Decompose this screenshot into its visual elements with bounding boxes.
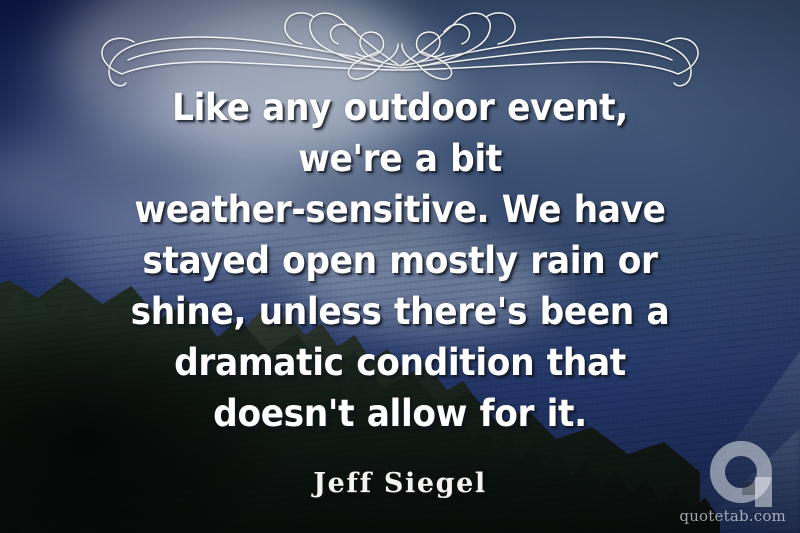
quotetab-q-logo-icon[interactable] (710, 441, 772, 503)
quote-line: stayed open mostly rain or (65, 235, 735, 286)
quote-text: Like any outdoor event, we're a bit weat… (65, 82, 735, 439)
watermark[interactable]: quotetab.com (680, 441, 790, 527)
decorative-flourish-icon (88, 8, 712, 90)
logo-notch-shape (742, 482, 755, 495)
quote-image-card: Like any outdoor event, we're a bit weat… (0, 0, 800, 533)
quote-line: we're a bit (65, 133, 735, 184)
watermark-site-label[interactable]: quotetab.com (679, 507, 786, 525)
logo-tail-shape (755, 477, 772, 507)
quote-line: doesn't allow for it. (65, 388, 735, 439)
quote-line: weather-sensitive. We have (65, 184, 735, 235)
quote-line: shine, unless there's been a (65, 286, 735, 337)
quote-line: dramatic condition that (65, 337, 735, 388)
quote-line: Like any outdoor event, (65, 82, 735, 133)
